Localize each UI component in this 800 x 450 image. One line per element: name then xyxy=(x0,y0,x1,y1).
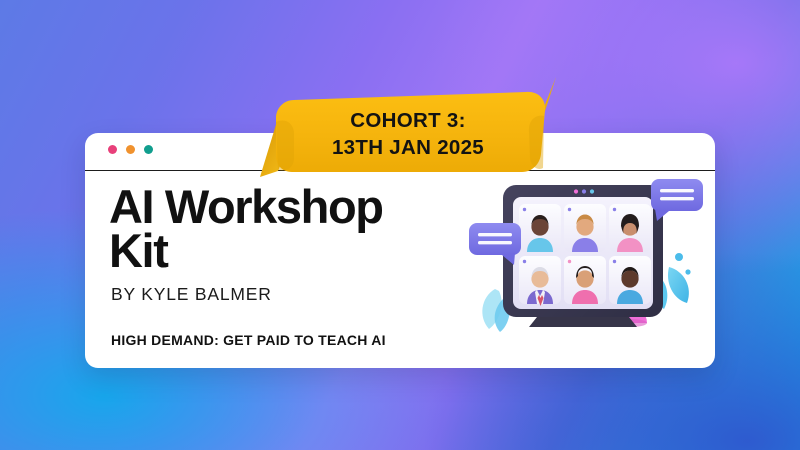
chat-bubble-right xyxy=(651,179,703,221)
window-controls xyxy=(108,145,153,154)
author-byline: BY KYLE BALMER xyxy=(111,284,479,305)
content-card: AI Workshop Kit BY KYLE BALMER HIGH DEMA… xyxy=(85,133,715,368)
tagline: HIGH DEMAND: GET PAID TO TEACH AI xyxy=(111,332,479,348)
video-conference-illustration xyxy=(465,171,705,361)
card-body: AI Workshop Kit BY KYLE BALMER HIGH DEMA… xyxy=(85,171,715,369)
window-dot-teal[interactable] xyxy=(144,145,153,154)
participant-tile-4 xyxy=(519,256,561,306)
window-dot-pink[interactable] xyxy=(108,145,117,154)
participant-tile-6 xyxy=(609,256,651,304)
page-title: AI Workshop Kit xyxy=(109,185,479,272)
participant-tile-5 xyxy=(564,256,606,304)
participant-tile-1 xyxy=(519,204,561,252)
text-column: AI Workshop Kit BY KYLE BALMER HIGH DEMA… xyxy=(109,185,479,348)
participant-tile-2 xyxy=(564,204,606,252)
participant-tile-3 xyxy=(609,204,651,252)
card-titlebar xyxy=(85,133,715,171)
window-dot-orange[interactable] xyxy=(126,145,135,154)
chat-bubble-left xyxy=(469,223,521,265)
poster-canvas: AI Workshop Kit BY KYLE BALMER HIGH DEMA… xyxy=(0,0,800,450)
